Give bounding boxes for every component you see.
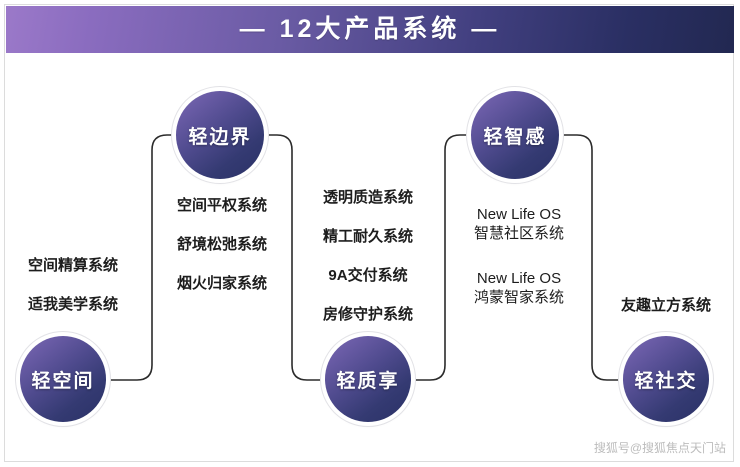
list-item: 透明质造系统 [305, 190, 431, 205]
header-banner: — 12大产品系统 — [6, 6, 734, 53]
list-item: 空间平权系统 [159, 198, 285, 213]
column-social: 友趣立方系统 [603, 298, 729, 313]
node-qing-bian-jie[interactable]: 轻边界 [176, 91, 264, 179]
node-label: 轻边界 [188, 122, 251, 149]
list-item: 适我美学系统 [10, 297, 136, 312]
node-qing-kong-jian[interactable]: 轻空间 [20, 336, 106, 422]
list-item-line: 鸿蒙智家系统 [455, 290, 583, 305]
column-smart: New Life OS 智慧社区系统 New Life OS 鸿蒙智家系统 [455, 207, 583, 309]
list-item: 空间精算系统 [10, 258, 136, 273]
list-item-group: New Life OS 智慧社区系统 [455, 207, 583, 241]
node-qing-she-jiao[interactable]: 轻社交 [623, 336, 709, 422]
node-label: 轻空间 [31, 366, 94, 393]
list-item: 精工耐久系统 [305, 229, 431, 244]
list-item-line: 智慧社区系统 [455, 226, 583, 241]
list-item-line: New Life OS [455, 207, 583, 222]
column-quality: 透明质造系统 精工耐久系统 9A交付系统 房修守护系统 [305, 190, 431, 322]
page-title: — 12大产品系统 — [240, 17, 501, 42]
node-qing-zhi-gan[interactable]: 轻智感 [471, 91, 559, 179]
node-label: 轻质享 [336, 366, 399, 393]
list-item: 舒境松弛系统 [159, 237, 285, 252]
list-item: 9A交付系统 [305, 268, 431, 283]
list-item-line: New Life OS [455, 271, 583, 286]
list-item: 友趣立方系统 [603, 298, 729, 313]
node-qing-zhi-xiang[interactable]: 轻质享 [325, 336, 411, 422]
watermark-text: 搜狐号@搜狐焦点天门站 [594, 439, 726, 456]
list-item: 烟火归家系统 [159, 276, 285, 291]
node-label: 轻智感 [483, 122, 546, 149]
list-item: 房修守护系统 [305, 307, 431, 322]
column-space: 空间精算系统 适我美学系统 [10, 258, 136, 312]
list-item-group: New Life OS 鸿蒙智家系统 [455, 271, 583, 305]
infographic-canvas: — 12大产品系统 — 轻空间 轻边界 轻质享 轻智感 轻社交 空间精算系统 适… [0, 0, 740, 467]
node-label: 轻社交 [634, 366, 697, 393]
watermark: 搜狐号@搜狐焦点天门站 [594, 439, 726, 456]
column-boundary: 空间平权系统 舒境松弛系统 烟火归家系统 [159, 198, 285, 291]
